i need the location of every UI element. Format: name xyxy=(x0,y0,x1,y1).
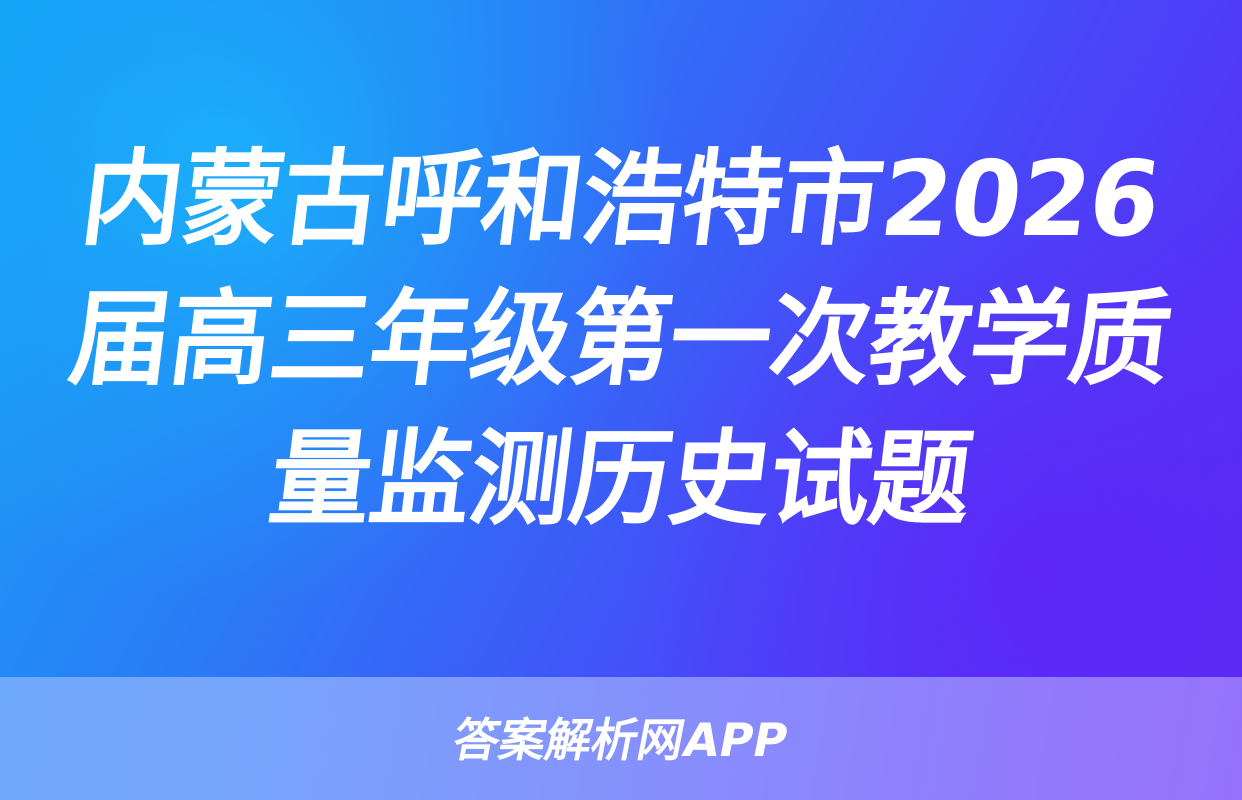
exam-title-line-3: 量监测历史试题 xyxy=(263,409,980,549)
poster-canvas: 内蒙古呼和浩特市2026 届高三年级第一次教学质 量监测历史试题 答案解析网AP… xyxy=(0,0,1242,800)
app-watermark-label: 答案解析网APP xyxy=(449,714,792,766)
exam-title-line-1: 内蒙古呼和浩特市2026 xyxy=(74,129,1167,269)
exam-title-block: 内蒙古呼和浩特市2026 届高三年级第一次教学质 量监测历史试题 xyxy=(0,0,1242,677)
exam-title-line-2: 届高三年级第一次教学质 xyxy=(63,269,1179,409)
footer-watermark-band: 答案解析网APP xyxy=(0,677,1242,800)
